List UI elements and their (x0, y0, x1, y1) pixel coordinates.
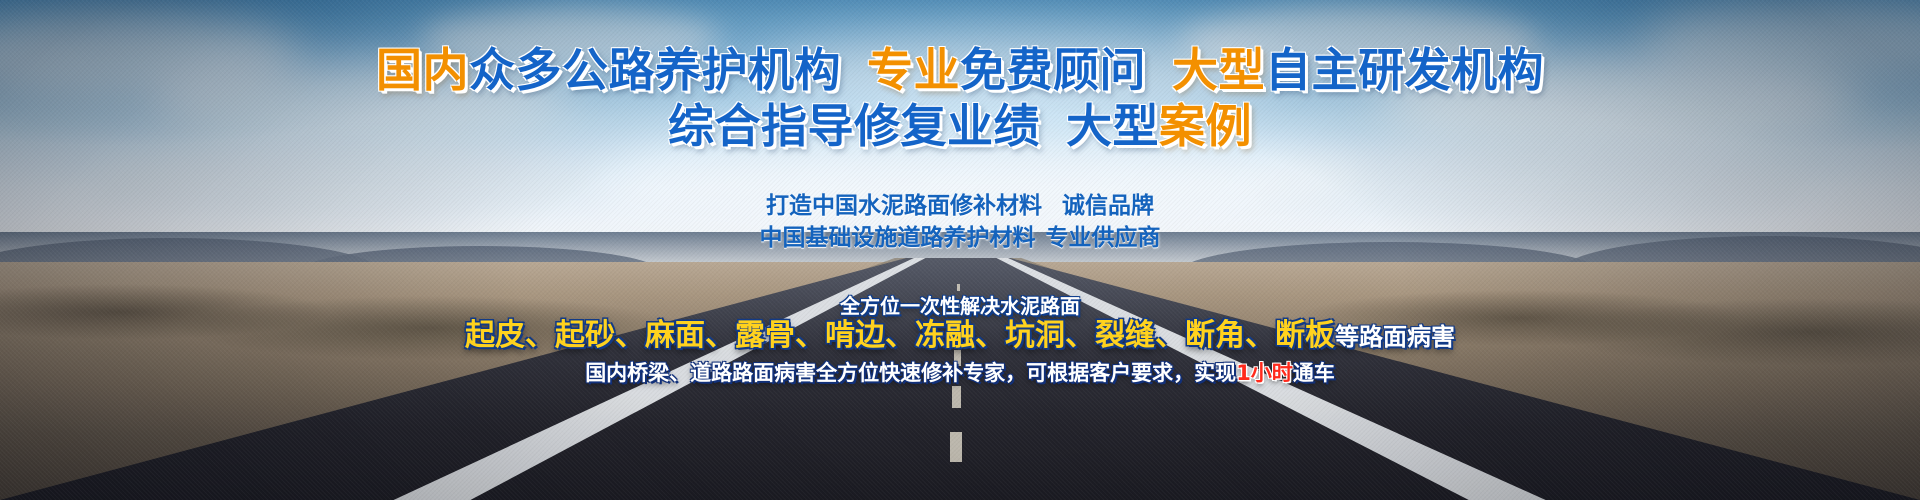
subtitle-line-1: 打造中国水泥路面修补材料诚信品牌 (0, 192, 1920, 221)
headline-seg-professional: 专业 (867, 43, 960, 97)
tail-text-after: 通车 (1293, 361, 1335, 385)
subtitle-infrastructure: 中国基础设施道路养护材料 (760, 225, 1036, 251)
headline-seg-free-consult: 免费顾问 (960, 43, 1146, 97)
headline-seg-guidance-results: 综合指导修复业绩 (668, 99, 1040, 153)
headline-seg-large-scale: 大型 (1172, 43, 1265, 97)
headline-seg-cases: 案例 (1159, 99, 1252, 153)
headline-line-2: 综合指导修复业绩大型案例 (0, 100, 1920, 152)
headline-seg-agencies: 众多公路养护机构 (469, 43, 841, 97)
subtitle-brand-claim: 打造中国水泥路面修补材料 (766, 193, 1042, 219)
text-overlay: 国内众多公路养护机构专业免费顾问大型自主研发机构 综合指导修复业绩大型案例 打造… (0, 0, 1920, 500)
bottom-lead-line: 全方位一次性解决水泥路面 (0, 294, 1920, 318)
tail-highlight-one-hour: 1小时 (1236, 361, 1293, 385)
headline-seg-domestic: 国内 (376, 43, 469, 97)
bottom-damage-line: 起皮、起砂、麻面、露骨、啃边、冻融、坑洞、裂缝、断角、断板等路面病害 (0, 318, 1920, 355)
subtitle-trust-brand: 诚信品牌 (1062, 193, 1154, 219)
tail-text-before: 国内桥梁、道路路面病害全方位快速修补专家，可根据客户要求，实现 (585, 361, 1236, 385)
subtitle-line-2: 中国基础设施道路养护材料专业供应商 (0, 224, 1920, 253)
bottom-tail-line: 国内桥梁、道路路面病害全方位快速修补专家，可根据客户要求，实现1小时通车 (0, 360, 1920, 386)
headline-line-1: 国内众多公路养护机构专业免费顾问大型自主研发机构 (0, 44, 1920, 96)
headline-seg-rnd-org: 自主研发机构 (1265, 43, 1544, 97)
damage-type-list: 起皮、起砂、麻面、露骨、啃边、冻融、坑洞、裂缝、断角、断板 (465, 318, 1335, 353)
headline-seg-large-scale-2: 大型 (1066, 99, 1159, 153)
damage-suffix: 等路面病害 (1335, 323, 1455, 351)
promo-banner: 国内众多公路养护机构专业免费顾问大型自主研发机构 综合指导修复业绩大型案例 打造… (0, 0, 1920, 500)
subtitle-supplier: 专业供应商 (1046, 225, 1161, 251)
